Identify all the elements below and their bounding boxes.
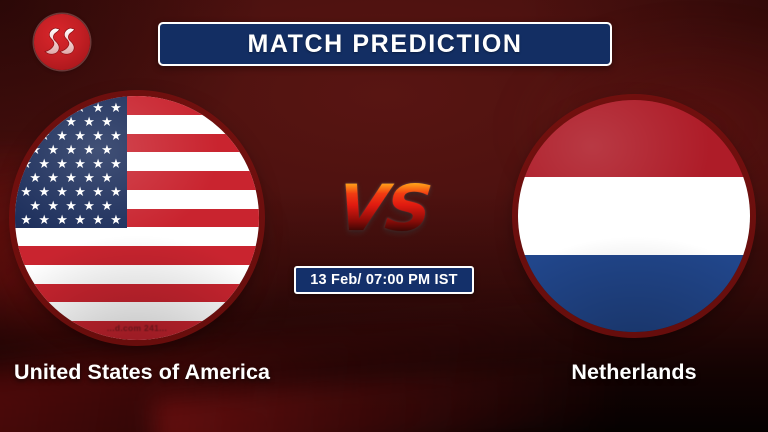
brand-logo[interactable] [34,14,90,70]
team-flag-usa: ★★★★★★★★★★★★★★★★★★★★★★★★★★★★★★★★★★★★★★★★… [15,96,259,340]
usa-flag-icon: ★★★★★★★★★★★★★★★★★★★★★★★★★★★★★★★★★★★★★★★★… [15,96,259,340]
versus-label: VS [335,177,433,241]
netherlands-flag-icon [518,100,750,332]
versus-mark: VS [333,166,435,252]
usa-gloss-overlay [15,96,259,340]
team-name-right: Netherlands [518,360,750,385]
match-prediction-banner: MATCH PREDICTION ★★★★★★★★★★★★★★★★★★★★★★★… [0,0,768,432]
team-flag-netherlands [518,100,750,332]
match-datetime-badge: 13 Feb/ 07:00 PM IST [294,266,474,294]
double-s-logo-icon [42,25,82,59]
netherlands-gloss-overlay [518,100,750,332]
match-prediction-banner-box: MATCH PREDICTION [158,22,612,66]
flag-watermark: ...d.com 241... [15,323,259,333]
team-name-left: United States of America [14,360,270,385]
match-datetime-label: 13 Feb/ 07:00 PM IST [310,272,457,288]
page-title: MATCH PREDICTION [247,30,522,59]
